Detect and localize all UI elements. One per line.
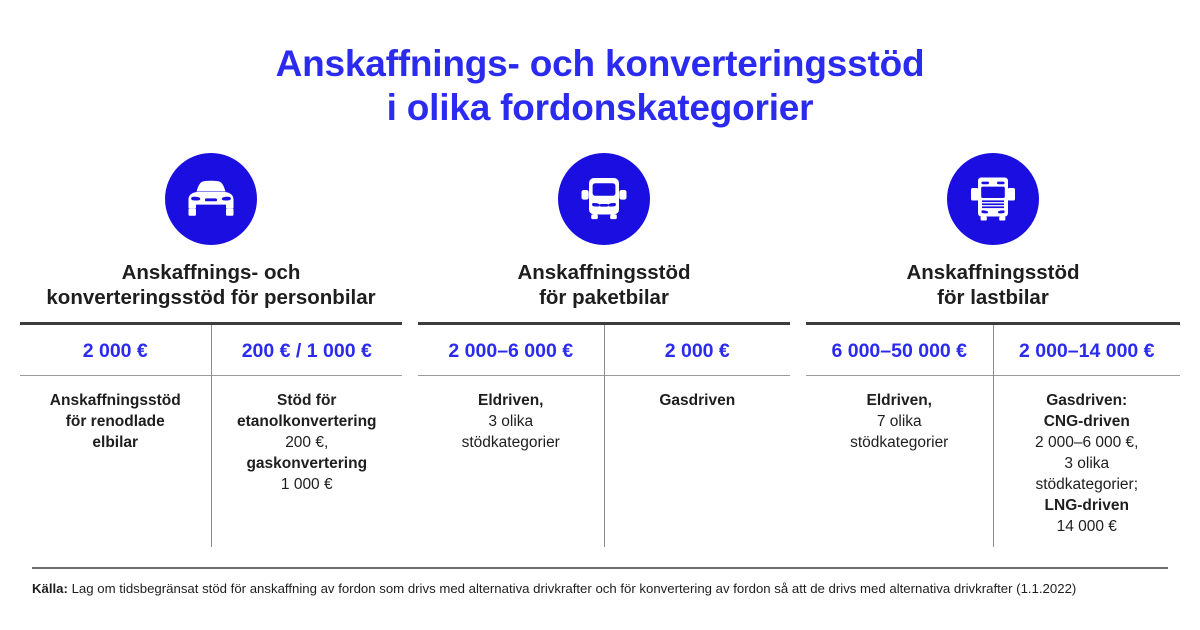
group-personbilar: Anskaffnings- och konverteringsstöd för … [20, 153, 402, 547]
group-heading-paketbilar: Anskaffningsstöd för paketbilar [418, 260, 790, 310]
description-line: 2 000–6 000 €, [1000, 432, 1175, 453]
description-text: Gasdriven [605, 376, 791, 547]
description-line: etanolkonvertering [218, 411, 397, 432]
page-title: Anskaffnings- och konverteringsstöd i ol… [0, 0, 1200, 130]
description-line: Gasdriven: [1000, 390, 1175, 411]
group-heading-lastbilar: Anskaffningsstöd för lastbilar [806, 260, 1180, 310]
group-heading-line-1: Anskaffningsstöd [420, 260, 788, 285]
van-front-icon [558, 153, 650, 245]
source-note: Källa: Lag om tidsbegränsat stöd för ans… [32, 580, 1172, 597]
group-lastbilar: Anskaffningsstöd för lastbilar 6 000–50 … [806, 153, 1180, 547]
description-line: för renodlade [26, 411, 205, 432]
description-line: 3 olika [1000, 453, 1175, 474]
source-text: Lag om tidsbegränsat stöd för anskaffnin… [68, 581, 1076, 596]
description-line: Gasdriven [611, 390, 785, 411]
table-paketbilar: 2 000–6 000 € Eldriven,3 olikastödkatego… [418, 322, 790, 547]
amount-value: 6 000–50 000 € [806, 325, 993, 376]
description-text: Stöd företanolkonvertering200 €,gaskonve… [212, 376, 403, 547]
page-title-line-2: i olika fordonskategorier [0, 86, 1200, 130]
group-heading-line-1: Anskaffningsstöd [808, 260, 1178, 285]
description-text: Anskaffningsstödför renodladeelbilar [20, 376, 211, 547]
vehicle-category-groups: Anskaffnings- och konverteringsstöd för … [0, 153, 1200, 547]
table-lastbilar: 6 000–50 000 € Eldriven,7 olikastödkateg… [806, 322, 1180, 547]
page-title-line-1: Anskaffnings- och konverteringsstöd [0, 42, 1200, 86]
icon-wrap-lastbilar [806, 153, 1180, 245]
amount-value: 2 000–14 000 € [994, 325, 1181, 376]
group-heading-line-2: för paketbilar [420, 285, 788, 310]
car-front-icon [165, 153, 257, 245]
truck-front-icon [947, 153, 1039, 245]
source-divider [32, 567, 1168, 569]
table-cell: 200 € / 1 000 € Stöd företanolkonverteri… [211, 325, 403, 547]
description-line: LNG-driven [1000, 495, 1175, 516]
amount-value: 2 000 € [605, 325, 791, 376]
group-heading-line-2: konverteringsstöd för personbilar [22, 285, 400, 310]
description-line: 1 000 € [218, 474, 397, 495]
icon-wrap-paketbilar [418, 153, 790, 245]
description-line: 3 olika [424, 411, 598, 432]
group-heading-line-2: för lastbilar [808, 285, 1178, 310]
source-label: Källa: [32, 581, 68, 596]
description-line: stödkategorier [812, 432, 987, 453]
group-heading-line-1: Anskaffnings- och [22, 260, 400, 285]
table-cell: 2 000–6 000 € Eldriven,3 olikastödkatego… [418, 325, 604, 547]
amount-value: 200 € / 1 000 € [212, 325, 403, 376]
description-line: Eldriven, [424, 390, 598, 411]
group-heading-personbilar: Anskaffnings- och konverteringsstöd för … [20, 260, 402, 310]
description-line: 14 000 € [1000, 516, 1175, 537]
group-paketbilar: Anskaffningsstöd för paketbilar 2 000–6 … [418, 153, 790, 547]
description-line: elbilar [26, 432, 205, 453]
table-cell: 2 000 € Anskaffningsstödför renodladeelb… [20, 325, 211, 547]
table-cell: 2 000 € Gasdriven [604, 325, 791, 547]
table-cell: 6 000–50 000 € Eldriven,7 olikastödkateg… [806, 325, 993, 547]
icon-wrap-personbilar [20, 153, 402, 245]
description-text: Eldriven,7 olikastödkategorier [806, 376, 993, 547]
description-line: Eldriven, [812, 390, 987, 411]
description-line: 7 olika [812, 411, 987, 432]
amount-value: 2 000–6 000 € [418, 325, 604, 376]
amount-value: 2 000 € [20, 325, 211, 376]
description-line: Anskaffningsstöd [26, 390, 205, 411]
description-line: Stöd för [218, 390, 397, 411]
description-text: Gasdriven:CNG-driven2 000–6 000 €,3 olik… [994, 376, 1181, 547]
description-text: Eldriven,3 olikastödkategorier [418, 376, 604, 547]
description-line: gaskonvertering [218, 453, 397, 474]
description-line: stödkategorier [424, 432, 598, 453]
table-cell: 2 000–14 000 € Gasdriven:CNG-driven2 000… [993, 325, 1181, 547]
description-line: CNG-driven [1000, 411, 1175, 432]
description-line: 200 €, [218, 432, 397, 453]
table-personbilar: 2 000 € Anskaffningsstödför renodladeelb… [20, 322, 402, 547]
description-line: stödkategorier; [1000, 474, 1175, 495]
